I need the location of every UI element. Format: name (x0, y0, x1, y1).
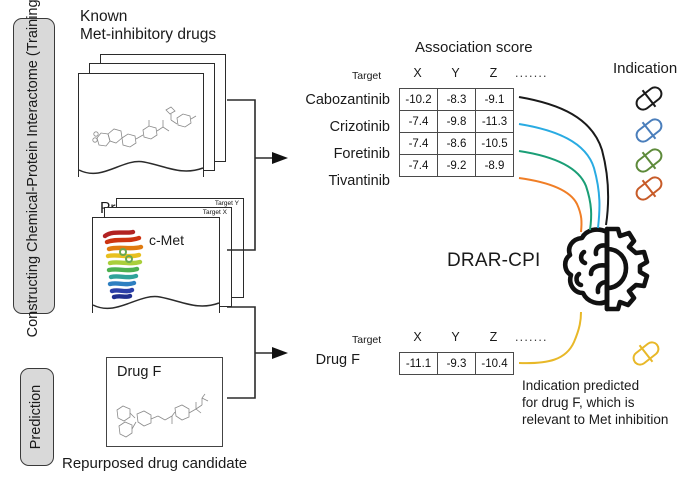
drug-f-card: Drug F (106, 357, 223, 447)
column-header-ellipsis-main: ....... (515, 66, 548, 80)
protein-ribbon-diagram (99, 226, 151, 304)
flow-curve-crizotinib (519, 124, 599, 228)
drug-row-label-crizotinib: Crizotinib (190, 119, 390, 135)
score-cell: -9.2 (438, 155, 476, 177)
drug-row-label-foretinib: Foretinib (190, 146, 390, 162)
flow-curve-foretinib (519, 151, 591, 230)
score-cell: -10.2 (400, 89, 438, 111)
prediction-note: Indication predicted for drug F, which i… (522, 378, 668, 429)
drug-card-wave-edge (79, 156, 203, 178)
capsule-icon-drug-f-prediction (629, 339, 663, 367)
score-cell: -8.6 (438, 133, 476, 155)
brain-gear-icon (560, 222, 660, 314)
protein-card-cmet: c-Met (92, 217, 220, 313)
capsule-icon-foretinib (632, 146, 666, 174)
drug-row-label-tivantinib: Tivantinib (190, 173, 390, 189)
repurposed-drug-caption: Repurposed drug candidate (62, 455, 247, 472)
score-cell: -10.5 (476, 133, 514, 155)
score-cell: -9.1 (476, 89, 514, 111)
column-header-z-main: Z (475, 66, 512, 80)
stage-band-training-label: Constructing Chemical-Protein Interactom… (26, 0, 42, 337)
stage-band-prediction-label: Prediction (29, 385, 45, 449)
drug-structure-diagram (87, 96, 199, 154)
column-header-y-prediction: Y (437, 330, 474, 344)
drar-cpi-label: DRAR-CPI (447, 250, 540, 272)
column-header-x-main: X (399, 66, 436, 80)
column-header-y-main: Y (437, 66, 474, 80)
column-header-z-prediction: Z (475, 330, 512, 344)
capsule-icon-crizotinib (632, 116, 666, 144)
figure-root: Constructing Chemical-Protein Interactom… (0, 0, 700, 485)
score-cell: -9.8 (438, 111, 476, 133)
prediction-score-table: -11.1 -9.3 -10.4 (399, 352, 514, 375)
table-row: -7.4 -9.2 -8.9 (400, 155, 514, 177)
score-cell: -11.1 (400, 353, 438, 375)
association-score-table: -10.2 -8.3 -9.1 -7.4 -9.8 -11.3 -7.4 -8.… (399, 88, 514, 177)
score-cell: -7.4 (400, 111, 438, 133)
stage-band-training: Constructing Chemical-Protein Interactom… (13, 18, 55, 314)
table-row: -7.4 -8.6 -10.5 (400, 133, 514, 155)
table-row: -10.2 -8.3 -9.1 (400, 89, 514, 111)
column-header-ellipsis-prediction: ....... (515, 330, 548, 344)
score-cell: -11.3 (476, 111, 514, 133)
score-cell: -7.4 (400, 155, 438, 177)
drug-f-card-label: Drug F (117, 364, 161, 380)
column-header-x-prediction: X (399, 330, 436, 344)
drug-row-label-cabozantinib: Cabozantinib (190, 92, 390, 108)
protein-card-target-x-label: Target X (203, 209, 227, 216)
score-cell: -7.4 (400, 133, 438, 155)
association-flow-curves (519, 97, 608, 232)
drug-card-front (78, 73, 204, 177)
score-cell: -10.4 (476, 353, 514, 375)
flow-curve-cabozantinib (519, 97, 608, 225)
target-word-prediction: Target (352, 334, 381, 346)
table-row: -7.4 -9.8 -11.3 (400, 111, 514, 133)
indication-heading: Indication (613, 60, 677, 77)
protein-card-cmet-label: c-Met (149, 232, 184, 248)
protein-card-target-y-label: Target Y (215, 200, 239, 207)
capsule-icon-tivantinib (632, 174, 666, 202)
score-cell: -8.9 (476, 155, 514, 177)
drug-row-label-drug-f: Drug F (230, 352, 360, 368)
drug-f-structure-diagram (113, 388, 218, 444)
stage-band-prediction: Prediction (20, 368, 54, 466)
score-cell: -8.3 (438, 89, 476, 111)
capsule-icon-cabozantinib (632, 84, 666, 112)
table-row: -11.1 -9.3 -10.4 (400, 353, 514, 375)
score-cell: -9.3 (438, 353, 476, 375)
target-word-main: Target (352, 70, 381, 82)
association-score-heading: Association score (415, 39, 533, 56)
known-drugs-heading: Known Met-inhibitory drugs (80, 8, 216, 44)
protein-targets-card-stack: Target Y Target X c-Met (92, 198, 252, 328)
